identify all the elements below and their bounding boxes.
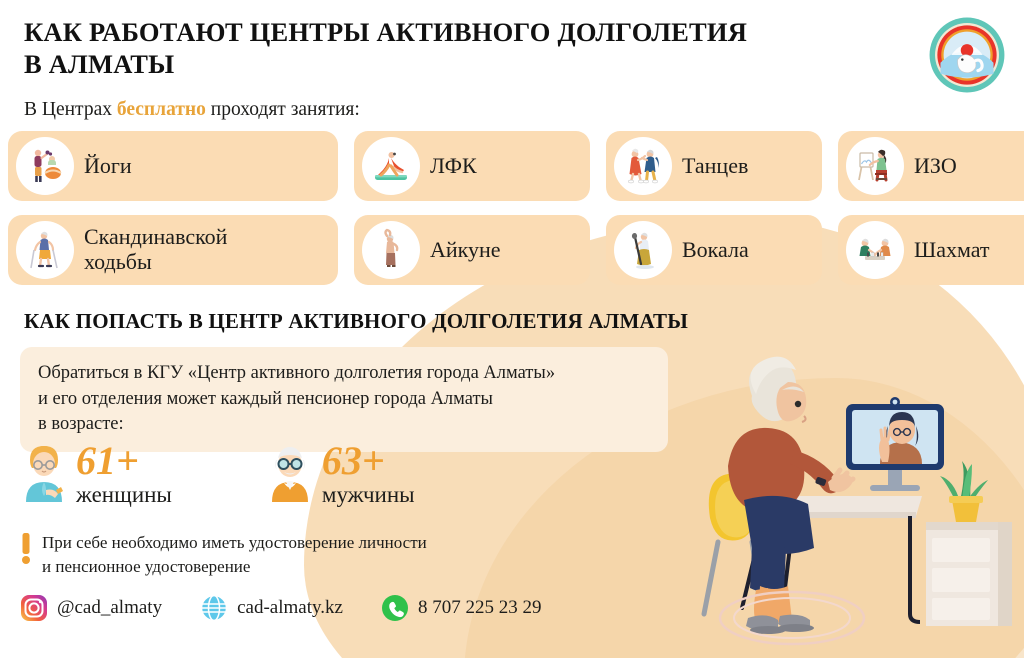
globe-icon: [200, 594, 228, 622]
section-title-how-to-join: КАК ПОПАСТЬ В ЦЕНТР АКТИВНОГО ДОЛГОЛЕТИЯ…: [24, 309, 688, 334]
activity-label: ЛФК: [430, 154, 477, 179]
contact-phone[interactable]: 8 707 225 23 29: [381, 594, 542, 622]
elderly-woman-avatar-icon: [16, 440, 72, 502]
subtitle-highlight-free: бесплатно: [117, 99, 206, 120]
exclamation-icon: [18, 531, 34, 571]
info-box: Обратиться в КГУ «Центр активного долгол…: [20, 347, 668, 452]
age-text-women: 61+ женщины: [76, 440, 172, 508]
instagram-icon: [20, 594, 48, 622]
almaty-city-emblem-icon: [928, 16, 1006, 94]
painting-easel-icon: [846, 137, 904, 195]
activity-label: Вокала: [682, 238, 749, 263]
activity-label: Танцев: [682, 154, 748, 179]
senior-video-call-illustration: [664, 346, 1024, 646]
info-box-text: Обратиться в КГУ «Центр активного долгол…: [38, 361, 650, 438]
activity-label: Йоги: [84, 154, 132, 179]
contact-phone-number: 8 707 225 23 29: [418, 597, 542, 619]
header: КАК РАБОТАЮТ ЦЕНТРЫ АКТИВНОГО ДОЛГОЛЕТИЯ…: [24, 16, 824, 121]
activity-card-aikune[interactable]: Айкуне: [354, 215, 590, 285]
subtitle-before: В Центрах: [24, 99, 117, 120]
subtitle: В Центрах бесплатно проходят занятия:: [24, 99, 824, 121]
aikune-stretching-icon: [362, 221, 420, 279]
activity-label: Айкуне: [430, 238, 501, 263]
age-number: 63+: [322, 442, 415, 480]
activity-label: ИЗО: [914, 154, 957, 179]
physical-therapy-icon: [362, 137, 420, 195]
activity-card-nordic-walking[interactable]: Скандинавской ходьбы: [8, 215, 338, 285]
infographic-poster: КАК РАБОТАЮТ ЦЕНТРЫ АКТИВНОГО ДОЛГОЛЕТИЯ…: [0, 0, 1024, 658]
activities-grid: Йоги ЛФК: [8, 131, 1016, 285]
dancing-couple-icon: [614, 137, 672, 195]
age-label: мужчины: [322, 482, 415, 508]
elderly-man-avatar-icon: [262, 440, 318, 502]
age-text-men: 63+ мужчины: [322, 440, 415, 508]
contacts-bar: @cad_almaty cad-almaty.kz: [20, 594, 579, 622]
subtitle-after: проходят занятия:: [206, 99, 360, 120]
contact-instagram[interactable]: @cad_almaty: [20, 594, 162, 622]
activity-card-izo[interactable]: ИЗО: [838, 131, 1024, 201]
nordic-walking-icon: [16, 221, 74, 279]
note-documents: При себе необходимо иметь удостоверение …: [18, 531, 427, 579]
activity-card-dance[interactable]: Танцев: [606, 131, 822, 201]
age-requirements: 61+ женщины: [16, 440, 415, 508]
activity-label: Скандинавской ходьбы: [84, 225, 227, 274]
activity-card-vocal[interactable]: Вокала: [606, 215, 822, 285]
contact-instagram-handle: @cad_almaty: [57, 597, 162, 619]
age-number: 61+: [76, 442, 172, 480]
yoga-icon: [16, 137, 74, 195]
activity-label: Шахмат: [914, 238, 990, 263]
chess-players-icon: [846, 221, 904, 279]
phone-icon: [381, 594, 409, 622]
contact-website-url: cad-almaty.kz: [237, 597, 343, 619]
activity-card-chess[interactable]: Шахмат: [838, 215, 1024, 285]
page-title: КАК РАБОТАЮТ ЦЕНТРЫ АКТИВНОГО ДОЛГОЛЕТИЯ…: [24, 16, 824, 81]
age-item-men: 63+ мужчины: [262, 440, 415, 508]
note-text: При себе необходимо иметь удостоверение …: [42, 531, 427, 579]
activity-card-yoga[interactable]: Йоги: [8, 131, 338, 201]
age-label: женщины: [76, 482, 172, 508]
contact-website[interactable]: cad-almaty.kz: [200, 594, 343, 622]
age-item-women: 61+ женщины: [16, 440, 172, 508]
vocal-microphone-icon: [614, 221, 672, 279]
activity-card-lfk[interactable]: ЛФК: [354, 131, 590, 201]
